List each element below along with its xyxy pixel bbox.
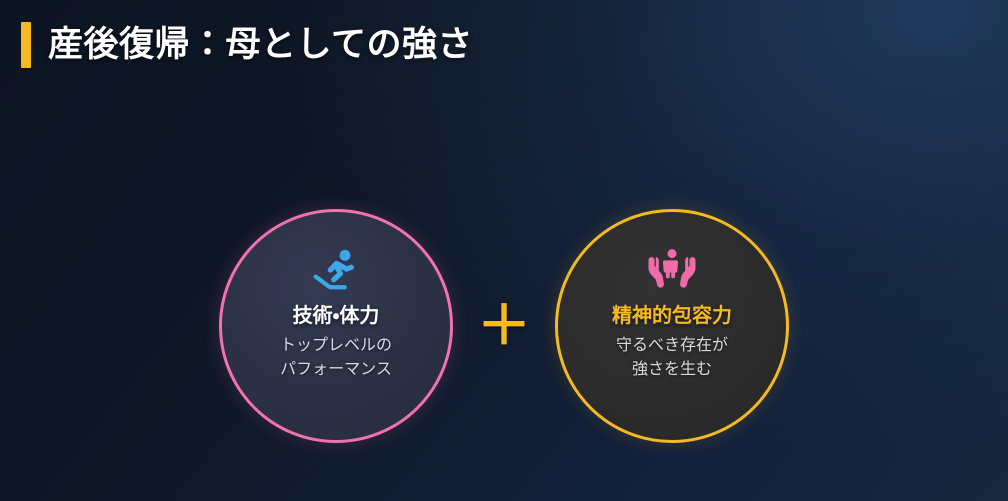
title-accent-bar — [21, 22, 31, 68]
card-subtitle: トップレベルの パフォーマンス — [280, 333, 392, 382]
page-title-row: 産後復帰：母としての強さ — [21, 22, 473, 68]
page-title: 産後復帰：母としての強さ — [48, 28, 473, 63]
plus-operator-icon: ＋ — [453, 299, 555, 353]
card-subtitle-line: パフォーマンス — [280, 357, 392, 381]
card-mental-capacity[interactable]: 精神的包容力 守るべき存在が 強さを生む — [555, 209, 789, 443]
card-subtitle: 守るべき存在が 強さを生む — [616, 333, 728, 382]
snowboarder-icon — [311, 243, 361, 295]
card-skill-strength[interactable]: 技術・体力 トップレベルの パフォーマンス — [219, 209, 453, 443]
card-title: 技術・体力 — [293, 304, 380, 326]
card-subtitle-line: トップレベルの — [280, 333, 392, 357]
card-subtitle-line: 強さを生む — [616, 357, 728, 381]
hands-holding-child-icon — [645, 243, 699, 295]
concept-circles-row: 技術・体力 トップレベルの パフォーマンス ＋ — [0, 208, 1008, 444]
card-subtitle-line: 守るべき存在が — [616, 333, 728, 357]
slide-canvas: 産後復帰：母としての強さ 技術・体力 トップレベルの パフォーマンス — [0, 0, 1008, 501]
card-title: 精神的包容力 — [612, 304, 732, 326]
